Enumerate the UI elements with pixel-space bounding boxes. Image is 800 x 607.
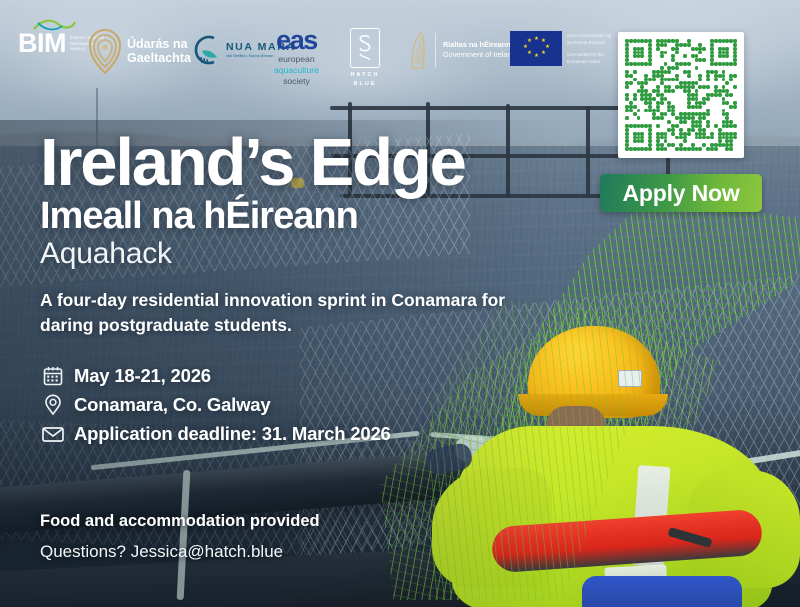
logo-hatch-blue: HATCH BLUE <box>350 28 380 88</box>
government-english: Government of Ireland <box>443 50 516 60</box>
udaras-line1: Údarás na <box>127 37 187 51</box>
poster-canvas: BIM Ireland’s Seafood Development Agency… <box>0 0 800 607</box>
logo-european-union: ★ ★ ★ ★ ★ ★ ★ ★ Arna chomhchistiú ag an … <box>510 31 615 66</box>
page-title-irish: Imeall na hÉireann <box>40 197 465 237</box>
location-pin-icon <box>38 394 68 416</box>
logo-government-of-ireland: Rialtas na hÉireann Government of Irelan… <box>408 30 516 70</box>
partner-logo-bar: BIM Ireland’s Seafood Development Agency… <box>0 0 620 100</box>
footer-contact-text[interactable]: Questions? Jessica@hatch.blue <box>40 542 283 562</box>
detail-row-location: Conamara, Co. Galway <box>38 391 391 418</box>
harp-icon <box>408 30 428 70</box>
work-trousers <box>582 576 742 607</box>
udaras-line2: Gaeltachta <box>127 51 191 65</box>
bim-wordmark: BIM <box>18 30 66 57</box>
eu-funding-irish: Arna chomhchistiú ag an Aontas Eorpach <box>567 32 615 46</box>
qr-code[interactable] <box>618 32 744 158</box>
hatch-line1: HATCH <box>351 72 380 78</box>
detail-row-deadline: Application deadline: 31. March 2026 <box>38 420 391 447</box>
page-subtitle: Aquahack <box>40 238 465 270</box>
government-irish: Rialtas na hÉireann <box>443 40 516 50</box>
hatch-blue-mark-icon <box>350 28 380 68</box>
calendar-icon <box>38 365 68 387</box>
udaras-spiral-icon <box>88 26 122 76</box>
detail-date-text: May 18-21, 2026 <box>74 365 211 387</box>
eas-line3: society <box>274 76 319 87</box>
page-title: Ireland’s Edge <box>40 131 465 195</box>
bim-swoosh-icon <box>32 17 76 33</box>
detail-location-text: Conamara, Co. Galway <box>74 394 270 416</box>
eas-line1: european <box>274 54 319 65</box>
qr-code-modules <box>625 39 737 151</box>
hatch-line2: BLUE <box>353 81 376 87</box>
detail-row-date: May 18-21, 2026 <box>38 362 391 389</box>
headline-block: Ireland’s Edge Imeall na hÉireann Aquaha… <box>40 131 465 270</box>
event-details-list: May 18-21, 2026 Conamara, Co. Galway App… <box>38 362 391 449</box>
eu-funding-english: Co-Funded by the European Union <box>567 51 615 65</box>
eas-wordmark: eas <box>276 28 317 52</box>
eas-line2: aquaculture <box>274 65 319 76</box>
footer-provision-text: Food and accommodation provided <box>40 512 320 531</box>
detail-deadline-text: Application deadline: 31. March 2026 <box>74 423 391 445</box>
eu-flag-icon: ★ ★ ★ ★ ★ ★ ★ ★ <box>510 31 562 66</box>
nua-mara-wave-icon <box>190 33 224 67</box>
divider <box>435 33 436 67</box>
logo-udaras-na-gaeltachta: Údarás na Gaeltachta <box>88 26 191 76</box>
udaras-wordmark: Údarás na Gaeltachta <box>127 37 191 66</box>
envelope-icon <box>38 423 68 445</box>
logo-eas: eas european aquaculture society <box>274 28 319 87</box>
hatch-blue-wordmark: HATCH BLUE <box>351 71 380 88</box>
description-text: A four-day residential innovation sprint… <box>40 288 510 339</box>
apply-now-button[interactable]: Apply Now <box>600 174 762 212</box>
